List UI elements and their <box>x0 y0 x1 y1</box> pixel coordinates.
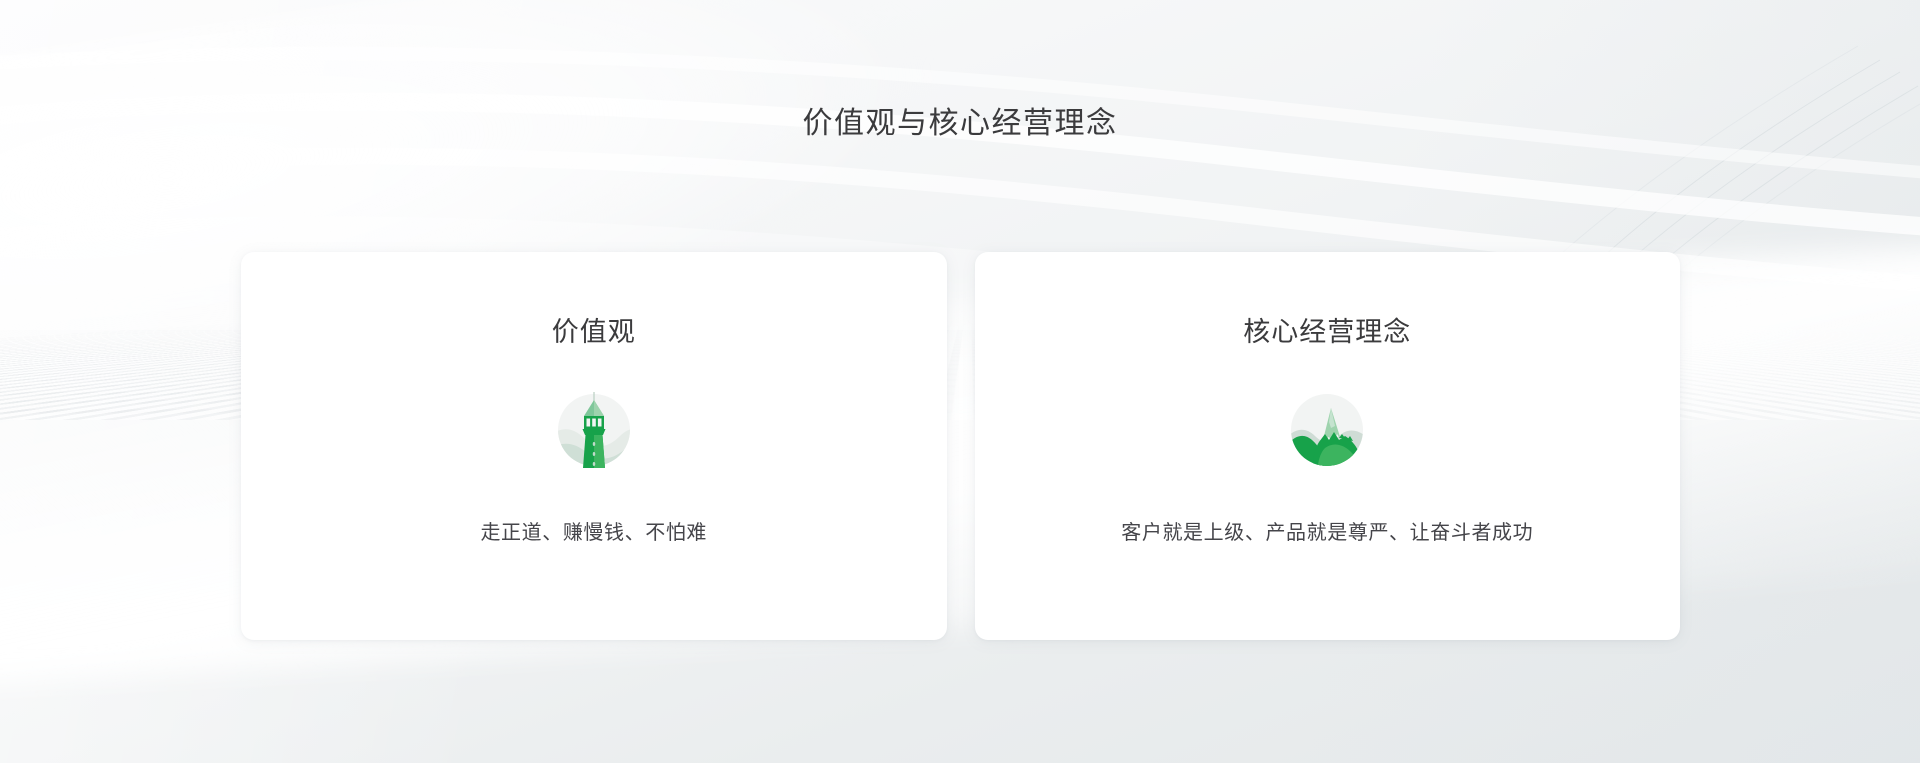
card-core-philosophy-description: 客户就是上级、产品就是尊严、让奋斗者成功 <box>1121 519 1533 547</box>
mountain-icon <box>1279 382 1375 478</box>
page-title: 价值观与核心经营理念 <box>0 100 1920 148</box>
card-grid: 价值观 <box>241 252 1680 640</box>
card-values-title: 价值观 <box>552 315 636 349</box>
lighthouse-icon <box>546 382 642 478</box>
card-values-description: 走正道、赚慢钱、不怕难 <box>480 519 707 547</box>
card-core-philosophy-title: 核心经营理念 <box>1243 315 1411 349</box>
card-core-philosophy[interactable]: 核心经营理念 <box>975 252 1681 640</box>
card-values[interactable]: 价值观 <box>241 252 947 640</box>
page-root: 价值观与核心经营理念 价值观 <box>0 0 1920 763</box>
